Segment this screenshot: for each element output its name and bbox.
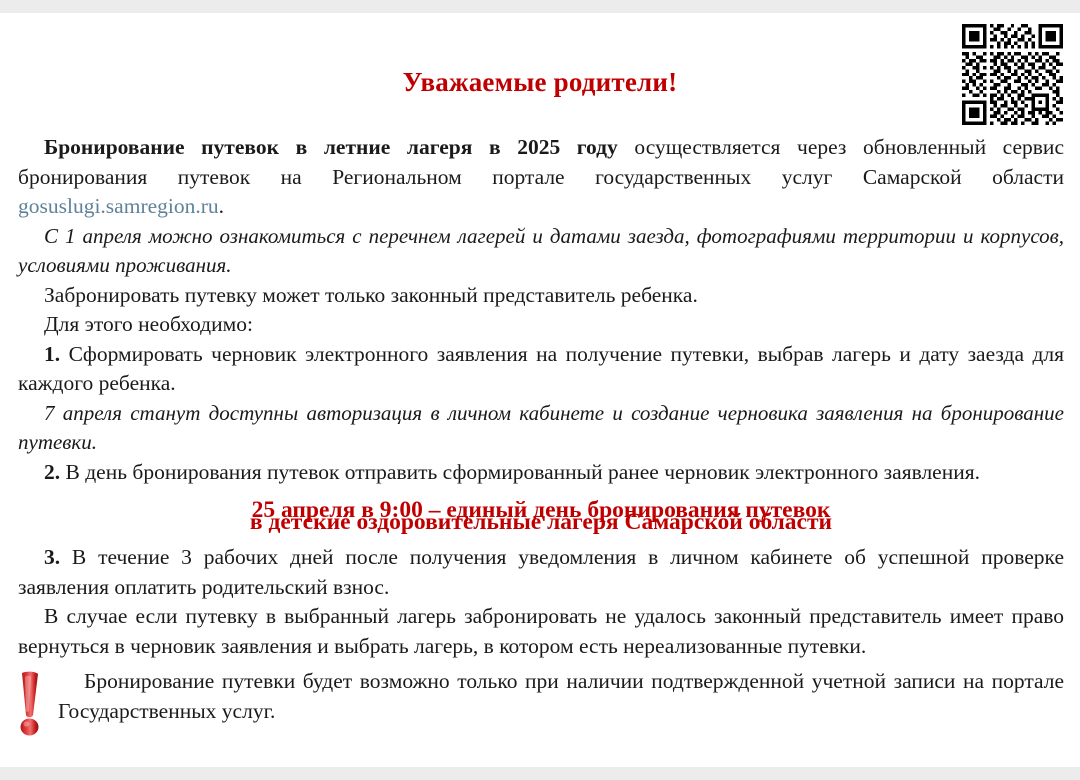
list-item-3: 3. В течение 3 рабочих дней после получе… <box>18 543 1064 602</box>
list-item-1-number: 1. <box>44 342 60 366</box>
paragraph-intro: Бронирование путевок в летние лагеря в 2… <box>18 133 1064 222</box>
final-note-row: Бронирование путевки будет возможно толь… <box>18 667 1064 726</box>
list-item-3-text: В течение 3 рабочих дней после получения… <box>18 545 1064 599</box>
list-item-1: 1. Сформировать черновик электронного за… <box>18 340 1064 399</box>
paragraph-steps-lead: Для этого необходимо: <box>18 310 1064 340</box>
document-page: Уважаемые родители! Бронирование путевок… <box>0 13 1080 767</box>
exclamation-mark-icon <box>10 671 50 737</box>
paragraph-april-1-note: С 1 апреля можно ознакомиться с перечнем… <box>18 222 1064 281</box>
paragraph-fallback-camp: В случае если путевку в выбранный лагерь… <box>18 602 1064 661</box>
paragraph-legal-representative: Забронировать путевку может только закон… <box>18 281 1064 311</box>
intro-bold-lead: Бронирование путевок в летние лагеря в 2… <box>44 135 618 159</box>
list-item-1-text: Сформировать черновик электронного заявл… <box>18 342 1064 396</box>
document-body: Бронирование путевок в летние лагеря в 2… <box>18 133 1064 726</box>
highlight-booking-day-line-2: в детские оздоровительные лагеря Самарск… <box>18 507 1064 537</box>
final-note-text: Бронирование путевки будет возможно толь… <box>18 667 1064 726</box>
list-item-3-number: 3. <box>44 545 60 569</box>
paragraph-confirmed-account: Бронирование путевки будет возможно толь… <box>58 667 1064 726</box>
list-item-2: 2. В день бронирования путевок отправить… <box>18 458 1064 488</box>
bottom-margin-band <box>0 767 1080 780</box>
intro-period: . <box>219 194 224 218</box>
paragraph-april-7-note: 7 апреля станут доступны авторизация в л… <box>18 399 1064 458</box>
list-item-2-number: 2. <box>44 460 60 484</box>
top-margin-band <box>0 0 1080 13</box>
page-title-text: Уважаемые родители! <box>403 67 678 97</box>
list-item-2-text: В день бронирования путевок отправить сф… <box>60 460 980 484</box>
page-title: Уважаемые родители! <box>0 67 1080 98</box>
gosuslugi-link[interactable]: gosuslugi.samregion.ru <box>18 194 219 218</box>
